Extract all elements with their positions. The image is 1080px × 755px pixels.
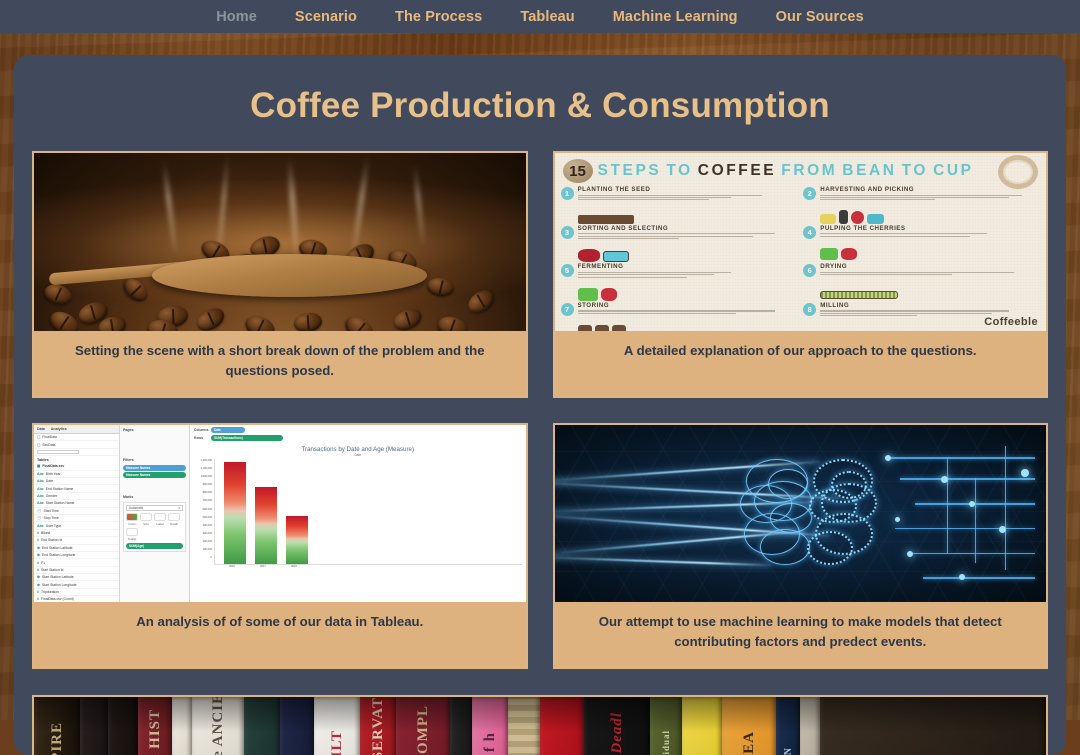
tableau-field[interactable]: ⊕End Station Latitude [34, 545, 119, 552]
card-row-1: Setting the scene with a short break dow… [32, 151, 1048, 398]
book-spine [280, 697, 314, 755]
tableau-bar-chart: 1,200,000 1,100,000 1,000,000 900,000 80… [190, 457, 526, 565]
infographic-brand: Coffeeble [984, 316, 1038, 328]
basket-icon [820, 214, 836, 224]
tableau-datasource[interactable]: ⬚FinalData [34, 434, 119, 441]
step-title: PULPING THE CHERRIES [820, 225, 1040, 232]
step-number: 5 [561, 264, 574, 277]
tableau-field[interactable]: 🕘Stop Time [34, 515, 119, 522]
infographic-step: 6 DRYING [803, 263, 1040, 301]
infographic-word-bean: BEAN [842, 162, 896, 180]
tableau-field[interactable]: #End Station Id [34, 537, 119, 544]
tableau-marks-card: Automatic▾ Color Size Label Detail Toolt… [123, 502, 186, 552]
step-title: SORTING AND SELECTING [578, 225, 798, 232]
brain-right-hemisphere-binary-icon [805, 455, 883, 573]
tableau-field[interactable]: AbcBirth Year [34, 471, 119, 478]
book-spine: The 7 Deadl [584, 697, 650, 755]
book-spine [108, 697, 138, 755]
tableau-field[interactable]: AbcStart Station Name [34, 500, 119, 507]
chart-bar [286, 516, 308, 563]
water-tank-icon [603, 251, 629, 262]
tableau-tables-label: Tables [34, 456, 119, 463]
book-spine: EMPIRE [34, 697, 80, 755]
drying-bed-icon [820, 291, 898, 299]
seedling-icon [578, 215, 634, 224]
tableau-field[interactable]: AbcGender [34, 493, 119, 500]
step-title: PLANTING THE SEED [578, 186, 798, 193]
tableau-field[interactable]: #F1 [34, 559, 119, 566]
tableau-rows-label: Rows [194, 436, 208, 440]
chart-bar [255, 487, 277, 564]
filter-pill[interactable]: Measure Names [123, 465, 186, 471]
card-caption-tableau: An analysis of of some of our data in Ta… [34, 602, 526, 667]
book-spine: AN [776, 697, 800, 755]
card-caption-machine-learning: Our attempt to use machine learning to m… [555, 602, 1047, 667]
truck-icon [867, 214, 884, 224]
step-title: STORING [578, 302, 798, 309]
card-scenario[interactable]: Setting the scene with a short break dow… [32, 151, 528, 398]
nav-item-tableau[interactable]: Tableau [501, 9, 593, 25]
cherry-split-icon [841, 248, 857, 260]
infographic-word-from: FROM [781, 162, 837, 180]
infographic-step: 3 SORTING AND SELECTING [561, 225, 798, 263]
infographic-heading: 15 STEPS TO COFFEE FROM BEAN TO CUP [561, 158, 1041, 184]
filter-pill[interactable]: Measure Names [123, 472, 186, 478]
tableau-field[interactable]: AbcEnd Station Name [34, 485, 119, 492]
tableau-columns-label: Columns [194, 428, 208, 432]
book-spine [450, 697, 472, 755]
book-spine [820, 697, 1046, 755]
storage-sack-icon [578, 325, 592, 331]
book-spine [172, 697, 192, 755]
tableau-marks-label: Marks [120, 492, 189, 500]
step-number: 2 [803, 187, 816, 200]
infographic-word-steps: STEPS [598, 162, 662, 180]
book-spine [682, 697, 722, 755]
infographic-badge: 15 [563, 159, 593, 183]
coffee-beans-image [34, 153, 526, 331]
book-spine [244, 697, 280, 755]
infographic-steps-grid: 1 PLANTING THE SEED 2 HARVESTING AND PIC… [561, 186, 1041, 326]
card-caption-scenario: Setting the scene with a short break dow… [34, 331, 526, 396]
tableau-table-1[interactable]: ▦FinalData.csv [34, 463, 119, 470]
tableau-data-pane: Data Analytics ⬚FinalData ⬚SecData Table… [34, 425, 120, 602]
card-tableau[interactable]: Data Analytics ⬚FinalData ⬚SecData Table… [32, 423, 528, 669]
chart-y-axis: 1,200,000 1,100,000 1,000,000 900,000 80… [192, 459, 214, 565]
tableau-field[interactable]: #FinalData.csv (Count) [34, 596, 119, 602]
infographic-word-to-2: TO [902, 162, 928, 180]
tableau-chart-title: Transactions by Date and Age (Measure) [190, 443, 526, 453]
fermented-bean-icon [601, 288, 617, 301]
book-spine: ES of the ANCIE [192, 697, 244, 755]
columns-pill[interactable]: Date [211, 427, 245, 433]
infographic-step: 7 STORING [561, 302, 798, 331]
marks-detail-button[interactable]: Detail [168, 513, 180, 526]
book-spine: DARK HIST [138, 697, 172, 755]
tableau-tab-analytics[interactable]: Analytics [51, 427, 67, 431]
book-spine [540, 697, 584, 755]
farmer-icon [839, 210, 848, 224]
page-title: Coffee Production & Consumption [32, 86, 1048, 126]
tableau-field[interactable]: #Bikeid [34, 530, 119, 537]
step-title: HARVESTING AND PICKING [820, 186, 1040, 193]
nav-item-scenario[interactable]: Scenario [276, 9, 376, 25]
fermenting-icon [578, 288, 598, 301]
book-spine [508, 697, 540, 755]
ai-brain-image [555, 425, 1047, 602]
marks-tooltip-button[interactable]: Tooltip [126, 528, 138, 541]
step-number: 6 [803, 264, 816, 277]
book-spine: E CONSERVAT [360, 697, 396, 755]
step-title: MILLING [820, 302, 1040, 309]
step-number: 1 [561, 187, 574, 200]
book-spine: Individual [650, 697, 682, 755]
tableau-datasource-secondary[interactable]: ⬚SecData [34, 441, 119, 448]
card-caption-the-process: A detailed explanation of our approach t… [555, 331, 1047, 396]
tableau-field[interactable]: ⊕Start Station Longitude [34, 581, 119, 588]
rows-pill[interactable]: SUM(Transactions) [211, 435, 283, 441]
chart-x-axis: 2016 2017 2018 [190, 565, 526, 568]
tableau-tab-data[interactable]: Data [37, 427, 45, 431]
book-spine: GREA [722, 697, 776, 755]
book-spine: THE COMPL [396, 697, 450, 755]
card-our-sources[interactable]: EMPIRE DARK HIST ES of the ANCIE NFILT E… [32, 695, 1048, 755]
infographic-step: 4 PULPING THE CHERRIES [803, 225, 1040, 263]
infographic-step: 5 FERMENTING [561, 263, 798, 301]
tableau-field[interactable]: #Tripduration [34, 589, 119, 596]
tableau-field[interactable]: ⊕Start Station Latitude [34, 574, 119, 581]
card-the-process[interactable]: 15 STEPS TO COFFEE FROM BEAN TO CUP 1 [553, 151, 1049, 398]
marks-type-select[interactable]: Automatic▾ [126, 505, 183, 511]
step-title: FERMENTING [578, 263, 798, 270]
tableau-search-field[interactable] [34, 449, 119, 456]
marks-size-button[interactable]: Size [140, 513, 152, 526]
book-spine [80, 697, 108, 755]
nav-item-the-process[interactable]: The Process [376, 9, 501, 25]
tableau-pages-label: Pages [120, 425, 189, 433]
step-number: 8 [803, 303, 816, 316]
book-spine [800, 697, 820, 755]
chevron-down-icon: ▾ [178, 506, 180, 510]
book-spine: NFILT [314, 697, 360, 755]
marks-label-button[interactable]: Label [154, 513, 166, 526]
tableau-screenshot-image: Data Analytics ⬚FinalData ⬚SecData Table… [34, 425, 526, 602]
coffee-cup-stain-icon [998, 155, 1038, 189]
chart-bar [224, 462, 246, 564]
nav-item-our-sources[interactable]: Our Sources [757, 9, 883, 25]
step-number: 3 [561, 226, 574, 239]
storage-sack-icon [612, 325, 626, 331]
bean-sort-icon [578, 249, 600, 262]
nav-item-home[interactable]: Home [197, 9, 276, 25]
infographic-word-coffee: COFFEE [698, 162, 776, 180]
nav-item-machine-learning[interactable]: Machine Learning [594, 9, 757, 25]
tableau-field[interactable]: #Start Station Id [34, 567, 119, 574]
bookshelf-image: EMPIRE DARK HIST ES of the ANCIE NFILT E… [34, 697, 1046, 755]
infographic-step: 1 PLANTING THE SEED [561, 186, 798, 224]
tableau-shelf-pane: Pages Filters Measure Names Measure Name… [120, 425, 190, 602]
step-title: DRYING [820, 263, 1040, 270]
coffee-steps-infographic-image: 15 STEPS TO COFFEE FROM BEAN TO CUP 1 [555, 153, 1047, 331]
step-number: 4 [803, 226, 816, 239]
cherry-icon [851, 211, 864, 224]
tableau-field[interactable]: AbcDate [34, 478, 119, 485]
storage-sack-icon [595, 325, 609, 331]
marks-color-button[interactable]: Color [126, 513, 138, 526]
top-navigation: Home Scenario The Process Tableau Machin… [0, 0, 1080, 33]
tableau-field[interactable]: ⊕End Station Longitude [34, 552, 119, 559]
tableau-view-canvas: Columns Date Rows SUM(Transactions) Tran… [190, 425, 526, 602]
tableau-field[interactable]: AbcUser Type [34, 522, 119, 529]
marks-color-pill[interactable]: SUM(Age) [126, 543, 183, 549]
infographic-step: 2 HARVESTING AND PICKING [803, 186, 1040, 224]
card-row-2: Data Analytics ⬚FinalData ⬚SecData Table… [32, 423, 1048, 669]
tableau-field[interactable]: 🕘Start Time [34, 508, 119, 515]
pulping-icon [820, 248, 838, 260]
card-machine-learning[interactable]: Our attempt to use machine learning to m… [553, 423, 1049, 669]
infographic-word-cup: CUP [933, 162, 974, 180]
chart-plot-area [214, 459, 522, 565]
infographic-word-to-1: TO [666, 162, 692, 180]
step-number: 7 [561, 303, 574, 316]
tableau-filters-label: Filters [120, 455, 189, 463]
book-spine: MI f h [472, 697, 508, 755]
content-panel: Coffee Production & Consumption [14, 55, 1066, 755]
